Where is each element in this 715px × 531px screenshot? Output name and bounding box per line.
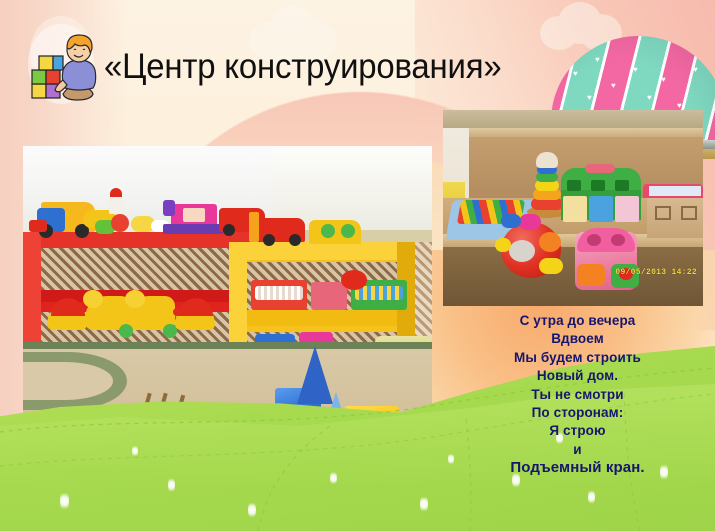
poem-line: Подъемный кран. bbox=[440, 459, 715, 477]
poem-text: С утра до вечера Вдвоем Мы будем строить… bbox=[440, 312, 715, 478]
toy-green-wheel bbox=[119, 324, 133, 338]
photo-table-toys: 09/05/2013 14:22 bbox=[443, 110, 703, 306]
sparkle-icon bbox=[248, 500, 256, 520]
poem-line: С утра до вечера bbox=[440, 312, 715, 330]
poem-line: и bbox=[440, 441, 715, 459]
toy-car-wheel bbox=[223, 224, 235, 236]
photo-timestamp: 09/05/2013 14:22 bbox=[615, 268, 697, 277]
activity-ball-pink bbox=[519, 214, 541, 230]
toy-train-window bbox=[183, 208, 205, 222]
photo-cabinet-top bbox=[443, 110, 703, 128]
yellow-shelf-board bbox=[229, 242, 415, 260]
stacking-top-figure bbox=[536, 152, 558, 168]
page-title: «Центр конструирования» bbox=[104, 40, 593, 94]
toy-car-detail bbox=[341, 224, 355, 238]
sorter-hole bbox=[615, 180, 629, 191]
sparkle-icon bbox=[132, 444, 138, 458]
toy-crane bbox=[249, 212, 259, 242]
cardboard-house-window bbox=[655, 206, 671, 220]
toy-box-pink bbox=[311, 282, 347, 310]
sorter-door-blue bbox=[589, 196, 613, 222]
sorter-hole bbox=[567, 180, 581, 191]
activity-ball-yellow bbox=[495, 238, 511, 252]
toy-red-bug bbox=[341, 270, 367, 290]
boy-building-blocks-icon bbox=[27, 24, 101, 108]
toy-train-funnel bbox=[163, 200, 175, 216]
activity-ball-orange bbox=[539, 232, 561, 252]
sorter-door-pink bbox=[615, 196, 639, 222]
activity-ball-yellow bbox=[539, 258, 563, 274]
activity-ball-blue bbox=[501, 214, 521, 228]
toy-train-base bbox=[163, 224, 223, 234]
toy-red-beak bbox=[173, 308, 187, 316]
poem-line: Мы будем строить bbox=[440, 349, 715, 367]
cube-pink-top bbox=[577, 228, 635, 252]
cardboard-house-window bbox=[681, 206, 697, 220]
cube-hole bbox=[611, 234, 625, 246]
poem-line: Новый дом. bbox=[440, 367, 715, 385]
poem-line: Ты не смотри bbox=[440, 386, 715, 404]
activity-ball-dial bbox=[509, 240, 535, 262]
toy-basket-contents bbox=[255, 286, 303, 300]
toy-ball bbox=[111, 214, 129, 232]
toy-truck-wheel bbox=[289, 234, 301, 246]
photo-cabinet-back-highlight bbox=[469, 128, 703, 137]
toy-car-detail bbox=[321, 224, 335, 238]
sorter-door-yellow bbox=[563, 196, 587, 222]
cube-hole bbox=[587, 234, 601, 246]
poem-line: Вдвоем bbox=[440, 330, 715, 348]
sparkle-icon bbox=[60, 490, 69, 512]
poem-line: По сторонам: bbox=[440, 404, 715, 422]
toy-duck-head bbox=[125, 290, 145, 308]
toy-duck-head bbox=[83, 290, 103, 308]
sparkle-icon bbox=[420, 494, 428, 514]
cube-orange-part bbox=[577, 264, 605, 286]
yellow-shelf-board bbox=[229, 310, 415, 326]
sorter-hole bbox=[591, 180, 605, 191]
sparkle-icon bbox=[168, 476, 175, 494]
house-contents bbox=[649, 186, 701, 196]
sparkle-icon bbox=[330, 470, 337, 486]
red-shelf-back-mesh bbox=[41, 246, 259, 290]
toy-truck-wheel bbox=[263, 234, 275, 246]
slide-canvas: ♥♥ ♥♥ ♥♥ ♥♥ ♥♥ ♥♥ bbox=[0, 0, 715, 531]
sorter-handle bbox=[585, 164, 615, 173]
toy-basket-contents bbox=[355, 286, 403, 300]
sparkle-icon bbox=[588, 488, 595, 506]
toy-red-accent bbox=[29, 220, 47, 232]
toy-santa-hat bbox=[110, 188, 122, 197]
poem-line: Я строю bbox=[440, 422, 715, 440]
